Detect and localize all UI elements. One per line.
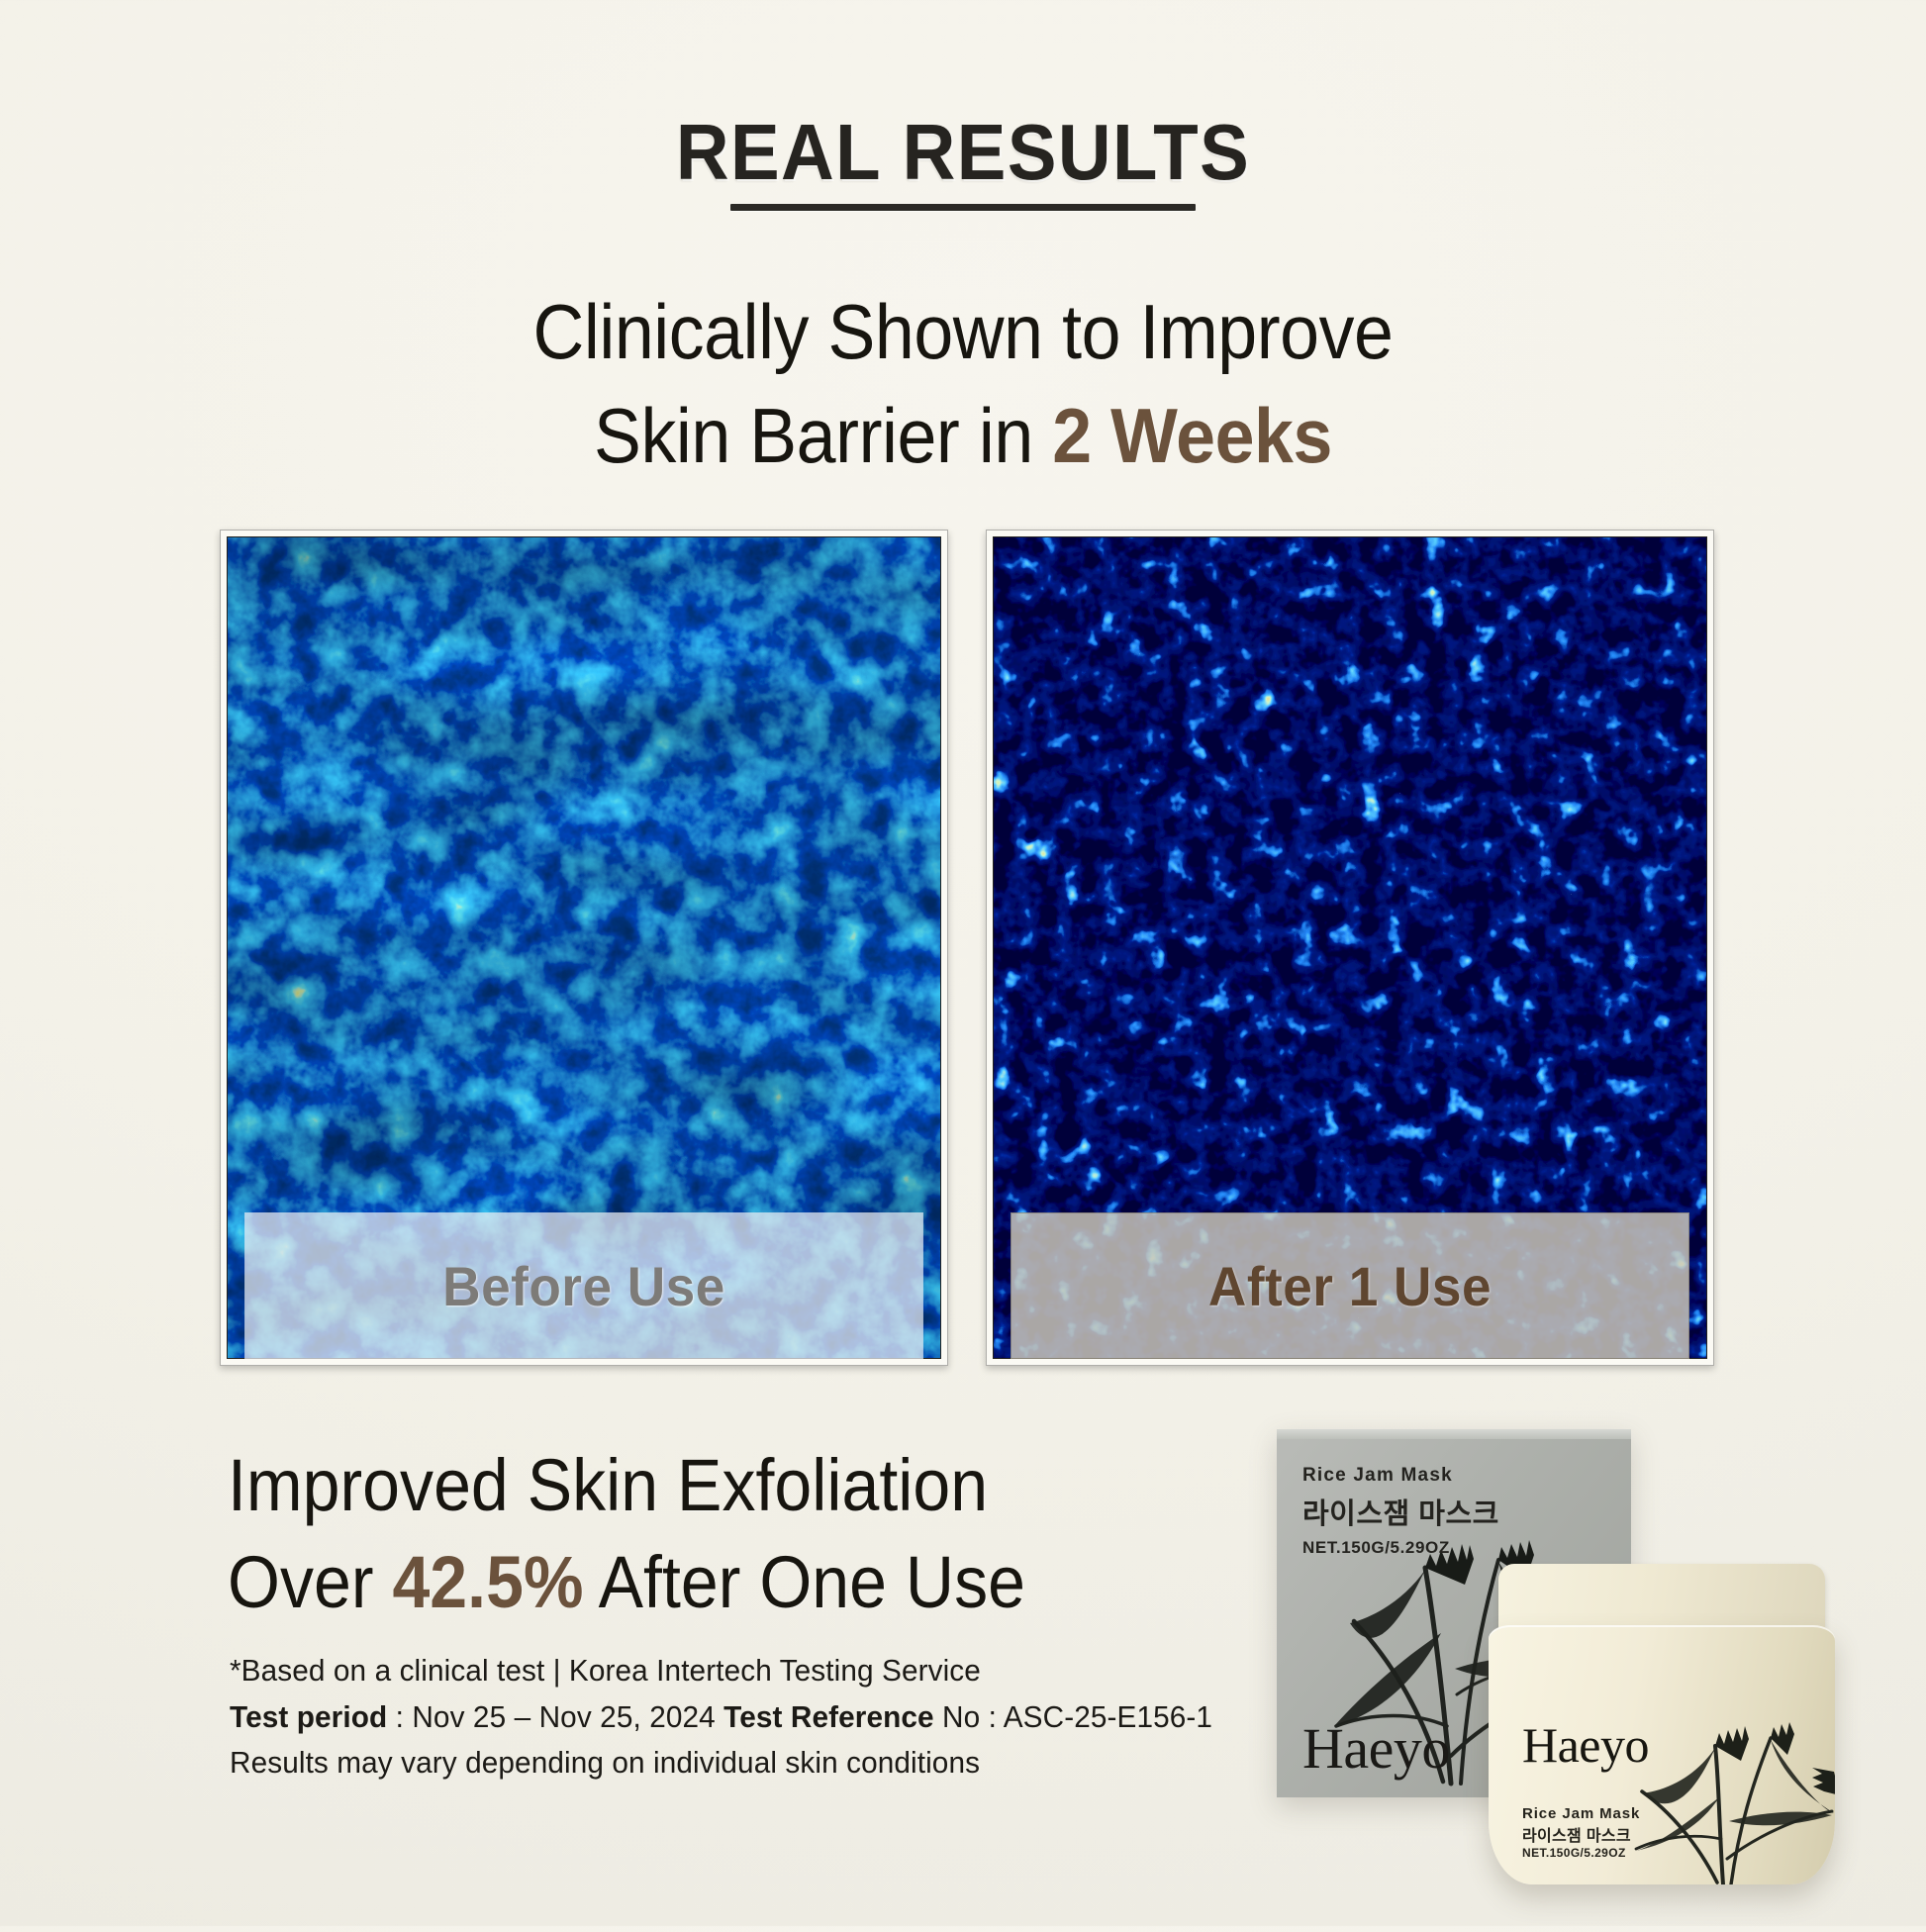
page-title: REAL RESULTS xyxy=(676,107,1250,198)
claim-line-1: Improved Skin Exfoliation xyxy=(228,1437,1147,1534)
disclaimer-block: *Based on a clinical test | Korea Intert… xyxy=(230,1648,1237,1787)
claim-line-2: Over 42.5% After One Use xyxy=(228,1534,1147,1631)
disclaimer-line-1: *Based on a clinical test | Korea Intert… xyxy=(230,1648,1237,1694)
panel-before: Before Use xyxy=(220,530,948,1366)
claim-line-2-post: After One Use xyxy=(583,1541,1025,1623)
heatmap-before-svg xyxy=(227,536,941,1359)
heatmap-after-svg xyxy=(993,536,1707,1359)
headline-line-1: Clinically Shown to Improve xyxy=(77,282,1849,382)
claim-percentage: 42.5% xyxy=(392,1541,583,1623)
headline-line-2-accent: 2 Weeks xyxy=(1052,392,1332,479)
before-after-comparison: Before Use xyxy=(220,530,1714,1366)
kicker-wrap: REAL RESULTS xyxy=(0,0,1926,211)
product-image: Rice Jam Mask 라이스잼 마스크 NET.150G/5.29OZ H… xyxy=(1235,1378,1888,1932)
box-product-name-en: Rice Jam Mask xyxy=(1302,1465,1499,1487)
disclaimer-line-2: Test period : Nov 25 – Nov 25, 2024 Test… xyxy=(230,1694,1237,1741)
disclaimer-test-period-value: : Nov 25 – Nov 25, 2024 xyxy=(387,1699,723,1734)
claim-block: Improved Skin Exfoliation Over 42.5% Aft… xyxy=(228,1437,1227,1630)
disclaimer-line-3: Results may vary depending on individual… xyxy=(230,1740,1237,1787)
jar-brand-logo: Haeyo xyxy=(1522,1716,1649,1774)
hero-section: REAL RESULTS Clinically Shown to Improve… xyxy=(0,0,1926,487)
jar-text-block: Rice Jam Mask 라이스잼 마스크 NET.150G/5.29OZ xyxy=(1522,1805,1640,1860)
panel-after: After 1 Use xyxy=(986,530,1714,1366)
heatmap-after xyxy=(993,536,1707,1359)
jar-body: Haeyo Rice Jam Mask 라이스잼 마스크 NET.150G/5.… xyxy=(1489,1625,1835,1884)
disclaimer-test-period-label: Test period xyxy=(230,1699,387,1734)
jar-net-weight: NET.150G/5.29OZ xyxy=(1522,1846,1640,1860)
rice-plant-illustration-jar xyxy=(1628,1681,1835,1884)
box-brand-logo: Haeyo xyxy=(1302,1715,1450,1782)
heatmap-before xyxy=(227,536,941,1359)
disclaimer-test-reference-label: Test Reference xyxy=(723,1699,934,1734)
jar-product-name-en: Rice Jam Mask xyxy=(1522,1805,1640,1822)
headline-line-2-plain: Skin Barrier in xyxy=(594,392,1052,479)
box-net-weight: NET.150G/5.29OZ xyxy=(1302,1538,1499,1558)
box-product-name-ko: 라이스잼 마스크 xyxy=(1302,1491,1499,1532)
box-text-block: Rice Jam Mask 라이스잼 마스크 NET.150G/5.29OZ xyxy=(1302,1465,1499,1558)
product-jar: Haeyo Rice Jam Mask 라이스잼 마스크 NET.150G/5.… xyxy=(1489,1564,1835,1892)
title-underline xyxy=(730,204,1196,211)
disclaimer-test-reference-value: No : ASC-25-E156-1 xyxy=(934,1699,1212,1734)
claim-line-2-pre: Over xyxy=(228,1541,392,1623)
headline-line-2: Skin Barrier in 2 Weeks xyxy=(77,386,1849,486)
jar-product-name-ko: 라이스잼 마스크 xyxy=(1522,1822,1640,1846)
